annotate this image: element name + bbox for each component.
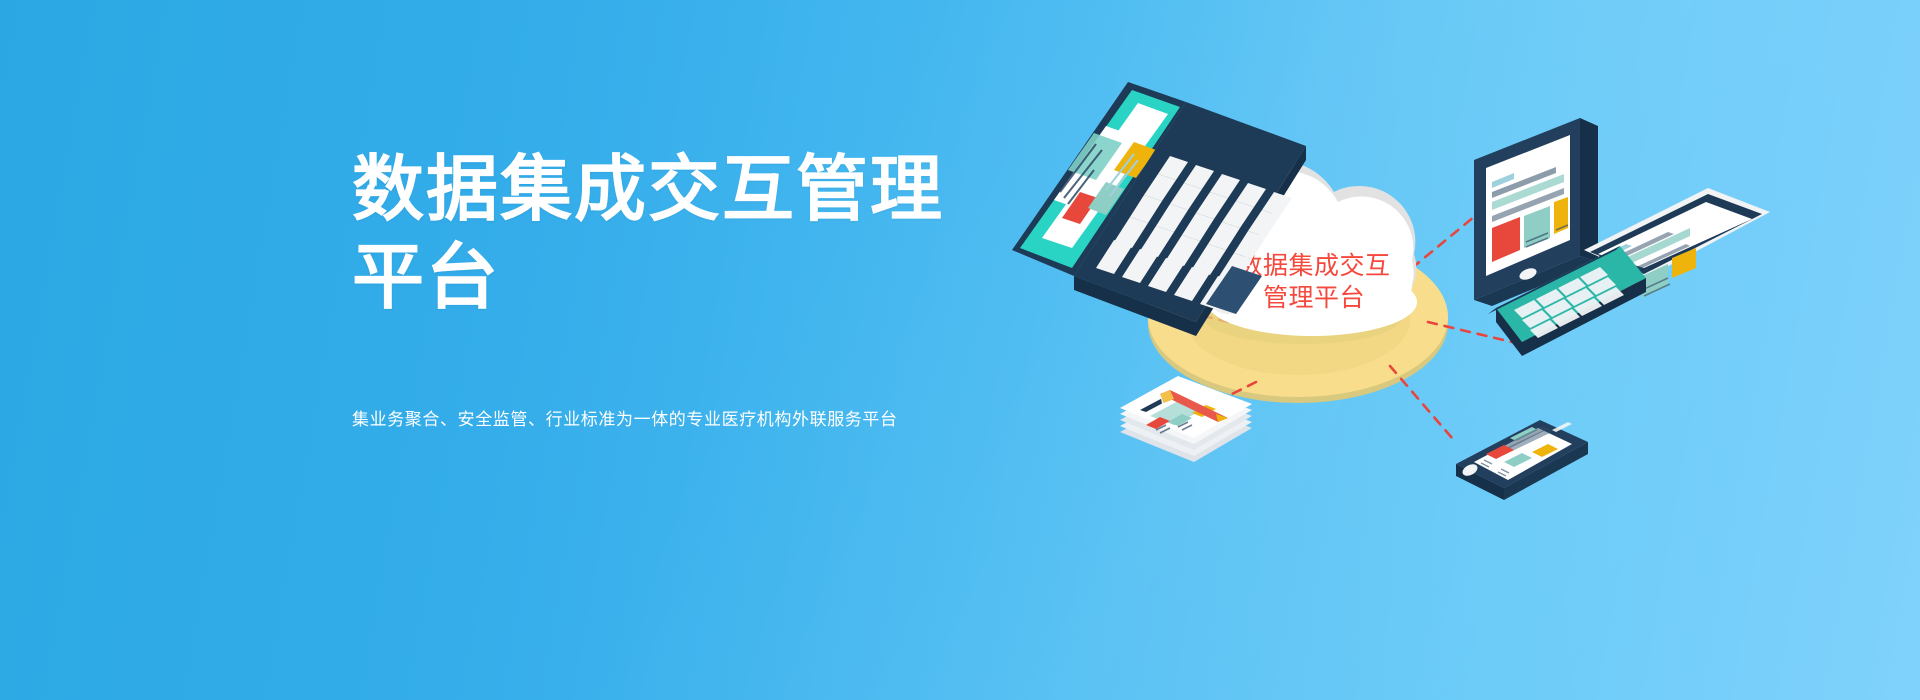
page-title: 数据集成交互管理平台 [352, 146, 992, 322]
device-smartphone [1456, 420, 1588, 500]
hero-text-block: 数据集成交互管理平台 集业务聚合、安全监管、行业标准为一体的专业医疗机构外联服务… [352, 146, 1052, 432]
hero-subtitle: 集业务聚合、安全监管、行业标准为一体的专业医疗机构外联服务平台 [352, 322, 1052, 432]
hero-banner: 数据集成交互管理平台 集业务聚合、安全监管、行业标准为一体的专业医疗机构外联服务… [0, 0, 1920, 700]
cloud-label-line2: 管理平台 [1263, 284, 1365, 312]
hero-illustration: 数据集成交互 管理平台 [1060, 70, 1880, 570]
